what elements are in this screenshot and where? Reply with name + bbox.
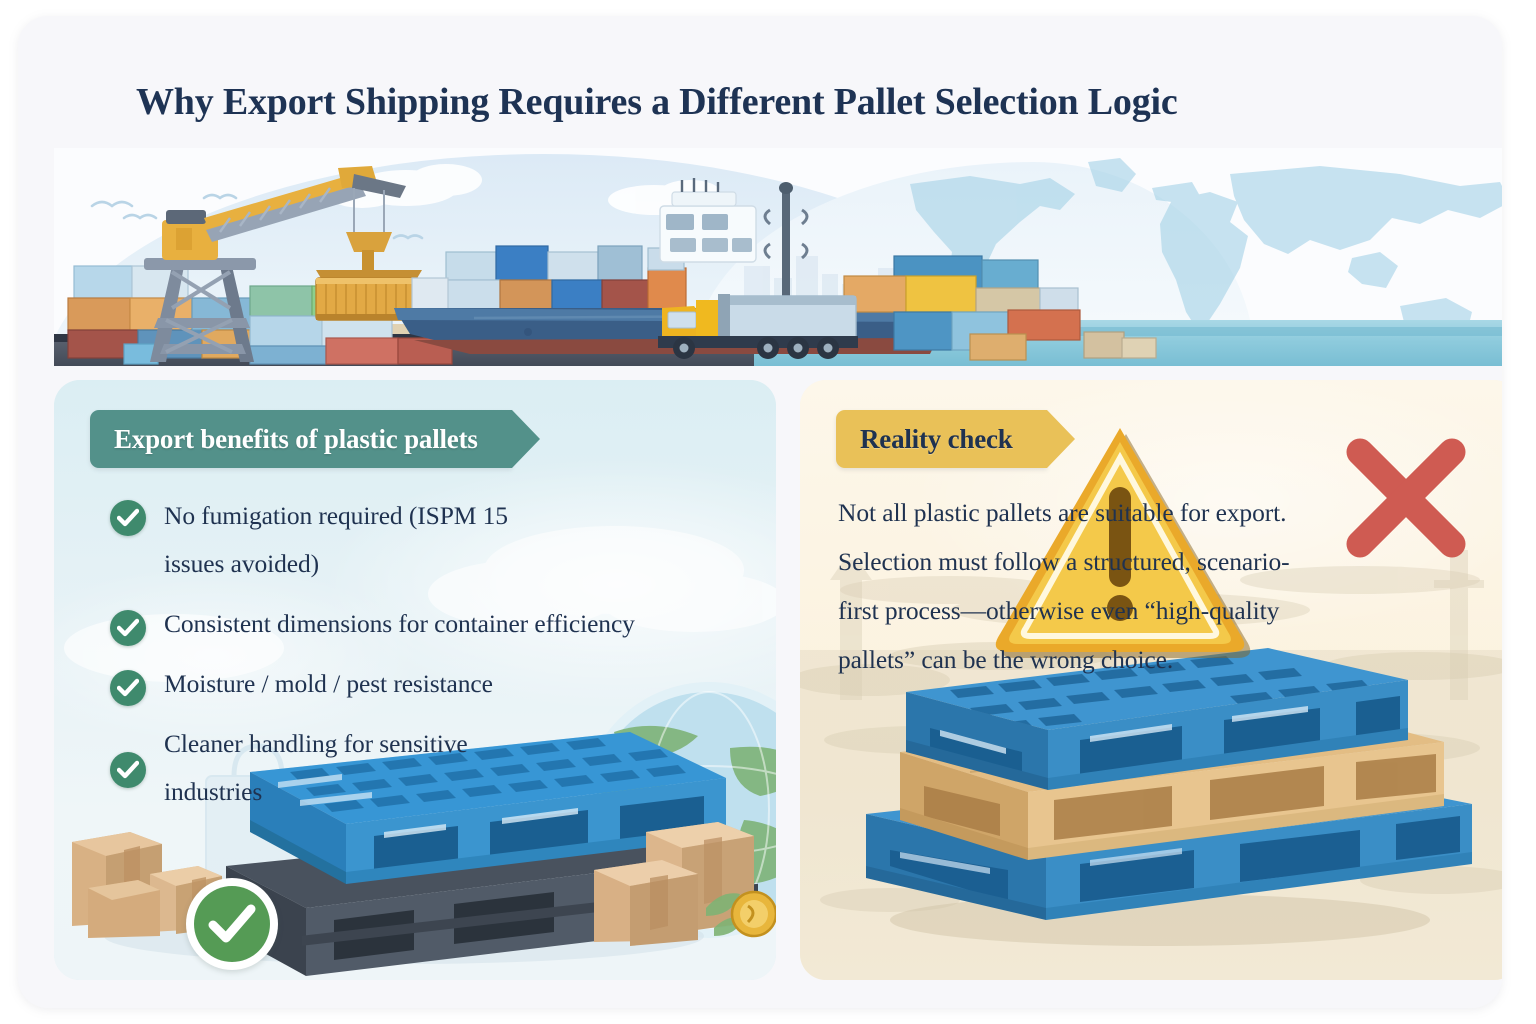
check-circle-icon — [110, 610, 146, 646]
infographic-card: Why Export Shipping Requires a Different… — [18, 16, 1502, 1008]
page-title: Why Export Shipping Requires a Different… — [136, 80, 1178, 124]
cargo-truck — [658, 294, 858, 359]
list-item: Cleaner handling for sensitive industrie… — [94, 720, 754, 816]
infographic-canvas: Why Export Shipping Requires a Different… — [0, 0, 1536, 1024]
check-circle-icon — [110, 670, 146, 706]
reality-check-body: Not all plastic pallets are suitable for… — [838, 488, 1470, 684]
list-item-label: Moisture / mold / pest resistance — [164, 660, 493, 708]
check-circle-icon — [194, 886, 270, 962]
panels-row: Export benefits of plastic pallets No fu… — [54, 380, 1502, 980]
list-item-label: No fumigation required (ISPM 15 issues a… — [164, 492, 508, 588]
left-panel-ribbon: Export benefits of plastic pallets — [90, 410, 512, 468]
benefit-bullet-list: No fumigation required (ISPM 15 issues a… — [94, 492, 754, 828]
panel-export-benefits: Export benefits of plastic pallets No fu… — [54, 380, 776, 980]
hero-scene-svg — [54, 148, 1502, 366]
list-item: No fumigation required (ISPM 15 issues a… — [94, 492, 754, 588]
check-circle-icon — [110, 752, 146, 788]
list-item: Moisture / mold / pest resistance — [94, 660, 754, 708]
right-panel-ribbon: Reality check — [836, 410, 1047, 468]
gold-coin — [732, 892, 776, 936]
list-item: Consistent dimensions for container effi… — [94, 600, 754, 648]
check-circle-icon — [110, 500, 146, 536]
list-item-label: Consistent dimensions for container effi… — [164, 600, 635, 648]
panel-reality-check: Reality check Not all plastic pallets ar… — [800, 380, 1502, 980]
hero-illustration — [54, 148, 1502, 366]
status-badge-approved — [186, 878, 278, 970]
list-item-label: Cleaner handling for sensitive industrie… — [164, 720, 468, 816]
